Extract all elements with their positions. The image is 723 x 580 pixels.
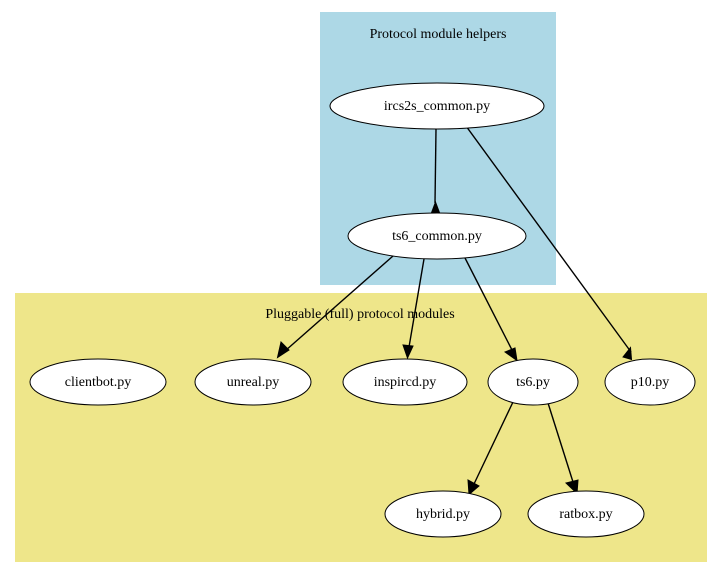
cluster-label-pluggable: Pluggable (full) protocol modules xyxy=(265,307,454,322)
node-label-ircs2s_common: ircs2s_common.py xyxy=(384,99,490,114)
node-label-ts6_common: ts6_common.py xyxy=(392,229,482,244)
node-label-clientbot: clientbot.py xyxy=(65,375,132,390)
edge-line xyxy=(435,129,436,203)
node-ratbox[interactable]: ratbox.py xyxy=(528,491,644,537)
diagram-canvas: Protocol module helpersPluggable (full) … xyxy=(0,0,723,580)
node-ts6[interactable]: ts6.py xyxy=(488,359,578,405)
node-hybrid[interactable]: hybrid.py xyxy=(385,491,501,537)
node-label-ts6: ts6.py xyxy=(516,375,550,390)
node-label-p10: p10.py xyxy=(631,375,670,390)
node-ircs2s_common[interactable]: ircs2s_common.py xyxy=(330,83,544,129)
node-label-hybrid: hybrid.py xyxy=(416,507,470,522)
node-p10[interactable]: p10.py xyxy=(605,359,695,405)
protocol-module-graph: Protocol module helpersPluggable (full) … xyxy=(0,0,723,580)
node-label-inspircd: inspircd.py xyxy=(374,375,437,390)
node-label-ratbox: ratbox.py xyxy=(559,507,612,522)
node-label-unreal: unreal.py xyxy=(227,375,279,390)
node-clientbot[interactable]: clientbot.py xyxy=(30,359,166,405)
node-unreal[interactable]: unreal.py xyxy=(195,359,311,405)
node-inspircd[interactable]: inspircd.py xyxy=(343,359,467,405)
node-ts6_common[interactable]: ts6_common.py xyxy=(348,213,526,259)
cluster-label-helpers: Protocol module helpers xyxy=(370,27,507,42)
